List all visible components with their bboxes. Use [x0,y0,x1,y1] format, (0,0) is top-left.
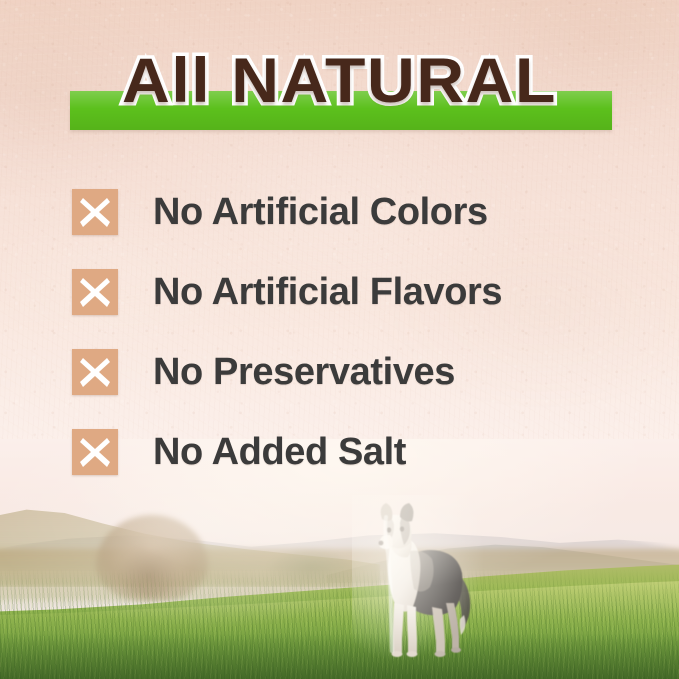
grass-field-shadow [0,633,679,679]
list-item: No Artificial Colors [0,172,679,252]
x-mark-icon [72,269,118,315]
list-item-label: No Artificial Flavors [153,273,502,311]
list-item: No Added Salt [0,412,679,492]
page-title: All NATURAL [0,50,679,113]
list-item: No Artificial Flavors [0,252,679,332]
all-natural-product-poster: All NATURAL No Artificial Colors No Arti… [0,0,679,679]
list-item-label: No Artificial Colors [153,193,488,231]
list-item-label: No Preservatives [153,353,455,391]
border-collie-dog [360,503,480,661]
list-item-label: No Added Salt [153,433,406,471]
claims-list: No Artificial Colors No Artificial Flavo… [0,172,679,492]
x-mark-icon [72,349,118,395]
list-item: No Preservatives [0,332,679,412]
x-mark-icon [72,189,118,235]
x-mark-icon [72,429,118,475]
